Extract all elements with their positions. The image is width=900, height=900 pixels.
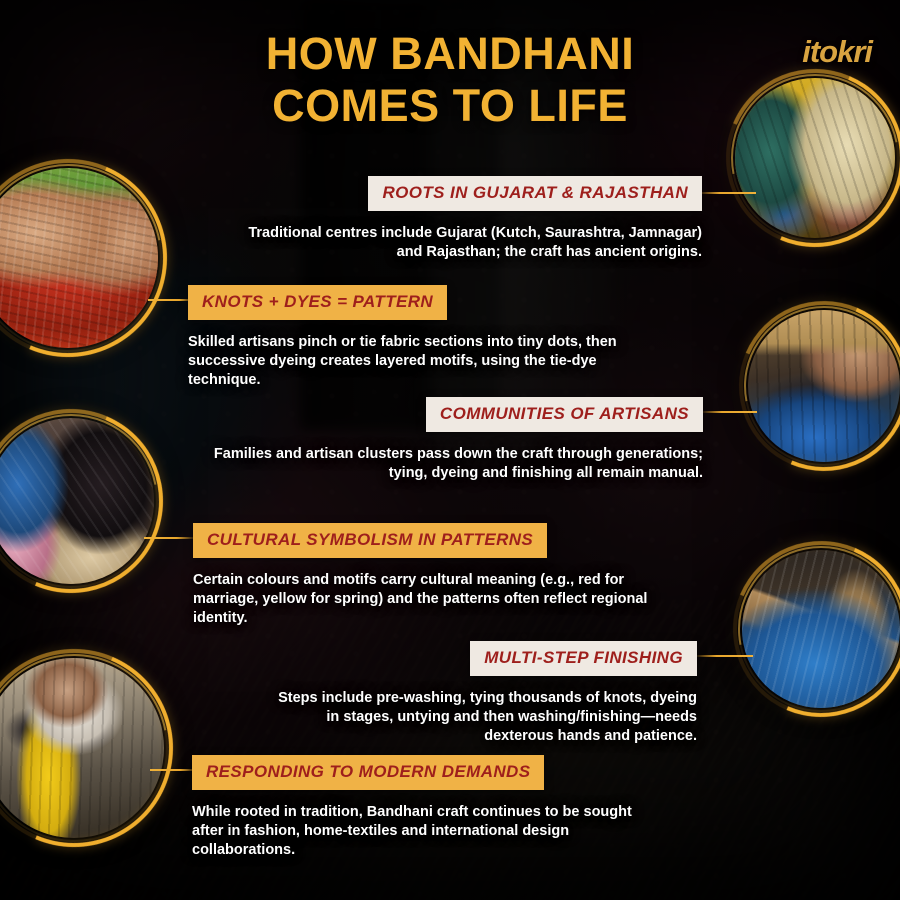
photo-disc (735, 78, 895, 238)
page-title-line-1: HOW BANDHANI (150, 28, 750, 80)
section-body: Traditional centres include Gujarat (Kut… (230, 224, 702, 262)
page-title-line-2: COMES TO LIFE (150, 80, 750, 132)
photo-hands-tying-red-fabric (0, 168, 158, 348)
section-heading: RESPONDING TO MODERN DEMANDS (192, 755, 544, 790)
brand-logo: itokri (802, 34, 872, 70)
section-multi-step-finishing: MULTI-STEP FINISHING Steps include pre-w… (262, 641, 697, 746)
photo-man-lifting-yellow-fabric (0, 658, 164, 838)
page-title: HOW BANDHANI COMES TO LIFE (150, 28, 750, 132)
photo-image (748, 310, 900, 462)
section-heading: MULTI-STEP FINISHING (470, 641, 697, 676)
section-knots-dyes-pattern: KNOTS + DYES = PATTERN Skilled artisans … (188, 285, 668, 390)
section-body: Families and artisan clusters pass down … (200, 445, 703, 483)
connector-line-1 (700, 192, 756, 194)
photo-image (735, 78, 895, 238)
section-body: Steps include pre-washing, tying thousan… (262, 689, 697, 746)
connector-line-5 (697, 655, 753, 657)
photo-dyer-at-blue-vat (748, 310, 900, 462)
section-heading: CULTURAL SYMBOLISM IN PATTERNS (193, 523, 547, 558)
photo-disc (0, 168, 158, 348)
photo-disc (0, 658, 164, 838)
section-heading: ROOTS IN GUJARAT & RAJASTHAN (368, 176, 702, 211)
photo-indigo-vat-dipping (742, 550, 900, 708)
photo-image (742, 550, 900, 708)
photo-women-artisans-yellow-wall (735, 78, 895, 238)
section-body: Skilled artisans pinch or tie fabric sec… (188, 333, 668, 390)
section-responding-to-modern-demands: RESPONDING TO MODERN DEMANDS While roote… (192, 755, 662, 860)
photo-image (0, 418, 154, 584)
photo-image (0, 168, 158, 348)
section-roots-in-gujarat-rajasthan: ROOTS IN GUJARAT & RAJASTHAN Traditional… (230, 176, 702, 262)
connector-line-6 (150, 769, 196, 771)
section-heading: KNOTS + DYES = PATTERN (188, 285, 447, 320)
section-cultural-symbolism-in-patterns: CULTURAL SYMBOLISM IN PATTERNS Certain c… (193, 523, 683, 628)
photo-image (0, 658, 164, 838)
infographic-canvas: itokri HOW BANDHANI COMES TO LIFE (0, 0, 900, 900)
photo-disc (0, 418, 154, 584)
section-body: While rooted in tradition, Bandhani craf… (192, 803, 662, 860)
section-body: Certain colours and motifs carry cultura… (193, 571, 683, 628)
photo-disc (748, 310, 900, 462)
photo-women-tying-cream-fabric (0, 418, 154, 584)
section-heading: COMMUNITIES OF ARTISANS (426, 397, 703, 432)
connector-line-3 (703, 411, 757, 413)
photo-disc (742, 550, 900, 708)
section-communities-of-artisans: COMMUNITIES OF ARTISANS Families and art… (200, 397, 703, 483)
connector-line-4 (144, 537, 194, 539)
